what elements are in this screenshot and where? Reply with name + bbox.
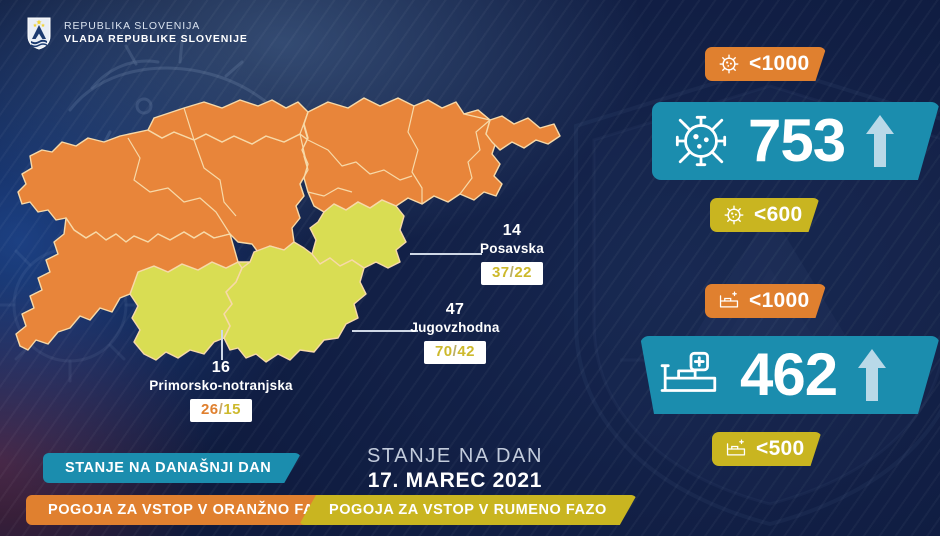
hospital-lower-threshold-label: <500	[756, 437, 805, 461]
primorsko-label: Primorsko-notranjska	[121, 377, 321, 395]
date-caption: STANJE NA DAN	[360, 444, 550, 468]
date-block: STANJE NA DAN 17. MAREC 2021	[360, 444, 550, 494]
posavska-label: Posavska	[432, 240, 592, 258]
slovenia-coat-of-arms-icon	[26, 16, 52, 50]
jugovzhodna-ratio-first: 70	[435, 343, 453, 360]
stat-cases-lower-threshold[interactable]: <600	[710, 198, 820, 232]
primorsko-ratio-first: 26	[201, 401, 219, 418]
date-value: 17. MAREC 2021	[360, 468, 550, 494]
hospital-bed-icon	[725, 439, 747, 459]
infographic-canvas: REPUBLIKA SLOVENIJA VLADA REPUBLIKE SLOV…	[0, 0, 940, 536]
arrow-up-icon	[863, 113, 897, 169]
jugovzhodna-value: 47	[375, 300, 535, 319]
hospital-upper-threshold-label: <1000	[749, 289, 809, 313]
primorsko-ratio-second: 15	[223, 401, 241, 418]
jugovzhodna-label: Jugovzhodna	[375, 319, 535, 337]
virus-icon	[718, 53, 740, 75]
stat-cases-upper-threshold[interactable]: <1000	[705, 47, 826, 81]
stat-hospital-upper-threshold[interactable]: <1000	[705, 284, 826, 318]
callout-jugovzhodna: 47 Jugovzhodna 70/42	[375, 300, 535, 364]
virus-icon	[723, 204, 745, 226]
ribbon-today-status[interactable]: STANJE NA DANAŠNJI DAN	[43, 453, 301, 483]
gov-line-2: VLADA REPUBLIKE SLOVENIJE	[64, 33, 248, 46]
hospital-bed-icon	[718, 291, 740, 311]
arrow-up-icon	[855, 347, 889, 403]
callout-posavska: 14 Posavska 37/22	[432, 221, 592, 285]
gov-header: REPUBLIKA SLOVENIJA VLADA REPUBLIKE SLOV…	[26, 16, 248, 50]
posavska-ratio: 37/22	[481, 262, 543, 285]
stat-hospital-current[interactable]: 462	[640, 336, 940, 414]
jugovzhodna-ratio: 70/42	[424, 341, 486, 364]
hospital-current-value: 462	[740, 345, 837, 405]
jugovzhodna-ratio-second: 42	[457, 343, 475, 360]
primorsko-ratio: 26/15	[190, 399, 252, 422]
posavska-ratio-second: 22	[514, 264, 532, 281]
posavska-value: 14	[432, 221, 592, 240]
map-region-goriska	[18, 130, 308, 252]
posavska-ratio-first: 37	[492, 264, 510, 281]
callout-primorsko-notranjska: 16 Primorsko-notranjska 26/15	[121, 358, 321, 422]
hospital-bed-icon	[660, 348, 722, 402]
cases-lower-threshold-label: <600	[754, 203, 803, 227]
leader-line-primorsko	[221, 330, 223, 360]
gov-line-1: REPUBLIKA SLOVENIJA	[64, 20, 248, 33]
primorsko-value: 16	[121, 358, 321, 377]
virus-icon	[672, 112, 730, 170]
ribbon-yellow-phase-conditions[interactable]: POGOJA ZA VSTOP V RUMENO FAZO	[299, 495, 637, 525]
stat-cases-current[interactable]: 753	[652, 102, 940, 180]
cases-upper-threshold-label: <1000	[749, 52, 809, 76]
stat-hospital-lower-threshold[interactable]: <500	[712, 432, 822, 466]
cases-current-value: 753	[748, 111, 845, 171]
